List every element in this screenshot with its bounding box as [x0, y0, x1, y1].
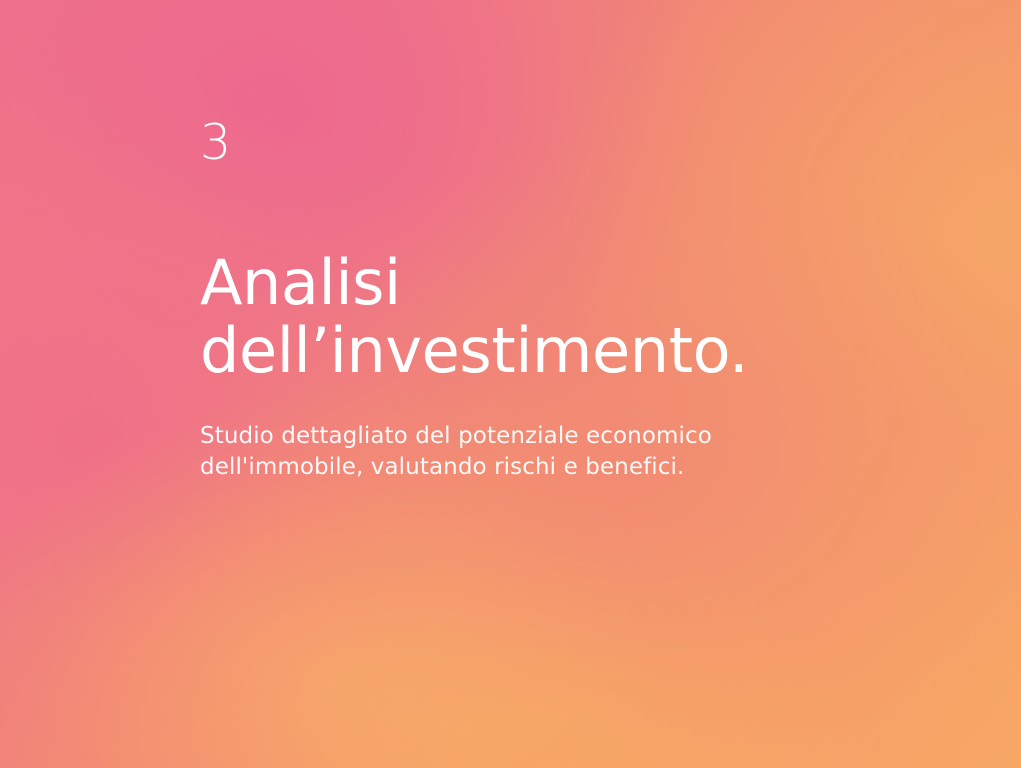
slide-title: Analisi dell’investimento.	[200, 167, 900, 385]
section-number: 3	[200, 100, 900, 167]
slide-canvas: 3 Analisi dell’investimento. Studio dett…	[0, 0, 1021, 768]
gradient-blob-bloom	[40, 470, 660, 768]
slide-subtitle: Studio dettagliato del potenziale econom…	[200, 385, 900, 483]
slide-content: 3 Analisi dell’investimento. Studio dett…	[200, 100, 900, 483]
